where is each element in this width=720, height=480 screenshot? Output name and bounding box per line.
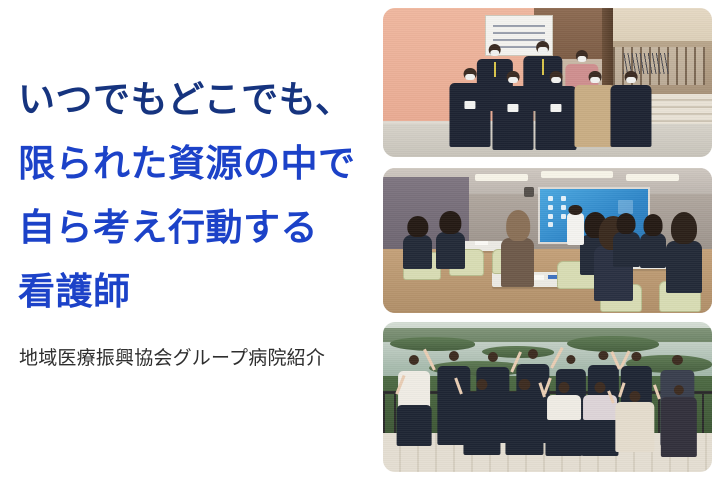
- seminar-attendee: [640, 233, 666, 268]
- seminar-attendee: [613, 232, 639, 267]
- headline-line-4: 看護師: [18, 260, 368, 324]
- seminar-attendee: [666, 241, 702, 293]
- headline-block: いつでもどこでも、 限られた資源の中で 自ら考え行動する 看護師: [18, 68, 368, 324]
- person: [534, 71, 577, 151]
- person: [544, 382, 583, 457]
- photo-lookout-deck: [383, 322, 712, 472]
- poster-root: いつでもどこでも、 限られた資源の中で 自ら考え行動する 看護師 地域医療振興協…: [0, 0, 720, 480]
- seminar-attendee: [403, 235, 433, 270]
- person: [449, 68, 492, 148]
- presenter: [567, 213, 583, 245]
- person: [492, 71, 535, 151]
- photo-column: [383, 8, 712, 472]
- subtitle: 地域医療振興協会グループ病院紹介: [19, 345, 325, 371]
- person: [659, 385, 698, 460]
- person: [613, 391, 656, 457]
- person: [505, 379, 544, 457]
- person: [610, 71, 653, 148]
- seminar-attendee: [501, 238, 534, 287]
- person: [396, 355, 432, 448]
- headline-line-1: いつでもどこでも、: [18, 68, 368, 132]
- person: [462, 379, 501, 457]
- headline-line-3: 自ら考え行動する: [18, 196, 368, 260]
- seminar-attendee: [436, 232, 466, 270]
- headline-line-2: 限られた資源の中で: [18, 132, 368, 196]
- text-panel: いつでもどこでも、 限られた資源の中で 自ら考え行動する 看護師 地域医療振興協…: [0, 0, 378, 480]
- photo-group-entrance: [383, 8, 712, 157]
- photo-seminar-room: [383, 168, 712, 313]
